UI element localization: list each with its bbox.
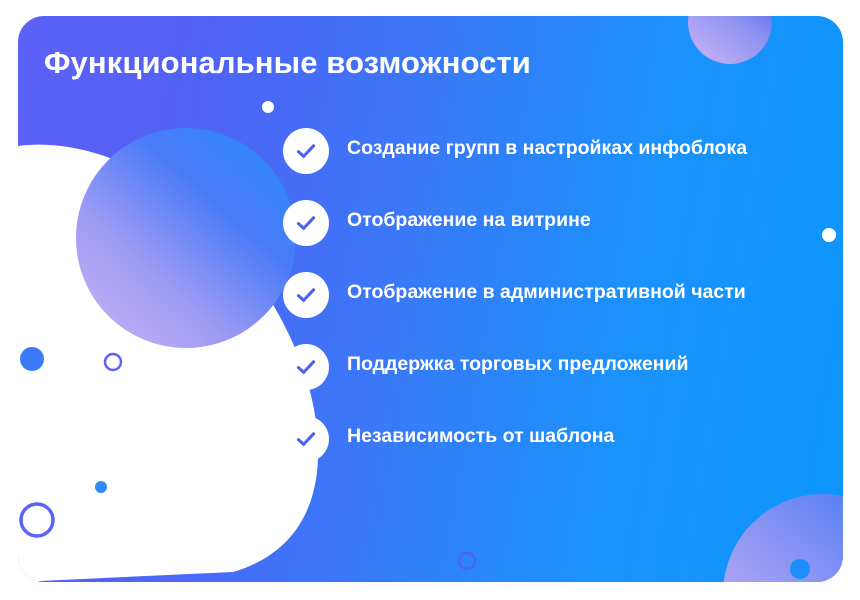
violet-ring-bottom-center <box>459 553 475 569</box>
feature-item-offers-support: Поддержка торговых предложений <box>283 344 828 394</box>
page-title: Функциональные возможности <box>44 44 764 81</box>
feature-label: Отображение на витрине <box>347 200 591 234</box>
feature-label: Независимость от шаблона <box>347 416 614 450</box>
blue-dot-on-circle <box>790 559 810 579</box>
check-icon <box>283 344 329 390</box>
feature-label: Отображение в административной части <box>347 272 746 306</box>
check-icon <box>283 200 329 246</box>
big-gradient-circle <box>76 128 296 348</box>
feature-item-template-independence: Независимость от шаблона <box>283 416 828 466</box>
feature-card: Функциональные возможности Создание груп… <box>18 16 843 582</box>
check-icon <box>283 416 329 462</box>
feature-item-admin-display: Отображение в административной части <box>283 272 828 322</box>
feature-item-storefront-display: Отображение на витрине <box>283 200 828 250</box>
feature-item-group-creation: Создание групп в настройках инфоблока <box>283 128 828 178</box>
feature-list: Создание групп в настройках инфоблока От… <box>283 128 828 466</box>
slide-root: Функциональные возможности Создание груп… <box>0 0 860 600</box>
check-icon <box>283 272 329 318</box>
bottom-right-gradient-circle <box>723 494 843 582</box>
feature-label: Поддержка торговых предложений <box>347 344 688 378</box>
blue-dot-upper-left <box>20 347 44 371</box>
blue-dot-left <box>95 481 107 493</box>
white-dot-top <box>262 101 274 113</box>
feature-label: Создание групп в настройках инфоблока <box>347 128 747 162</box>
check-icon <box>283 128 329 174</box>
